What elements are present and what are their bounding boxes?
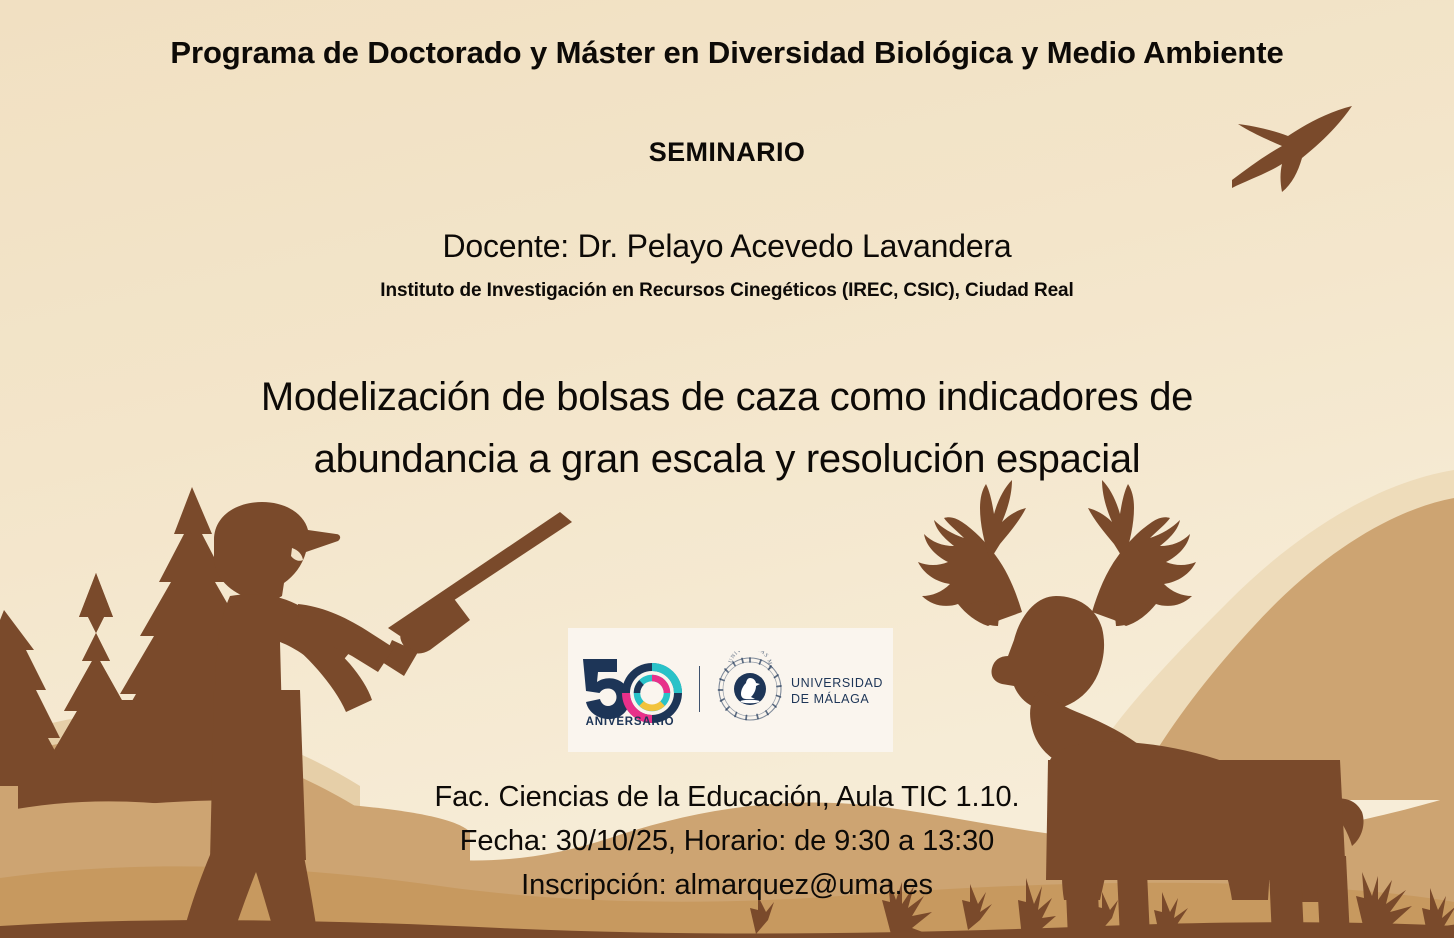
seminar-label: SEMINARIO [0, 137, 1454, 167]
venue-line: Fac. Ciencias de la Educación, Aula TIC … [0, 775, 1454, 819]
seminar-title-line-1: Modelización de bolsas de caza como indi… [0, 366, 1454, 428]
seminar-title: Modelización de bolsas de caza como indi… [0, 366, 1454, 490]
logo-divider [699, 666, 700, 712]
university-name-line1: UNIVERSIDAD [791, 676, 883, 690]
seminar-poster: Programa de Doctorado y Máster en Divers… [0, 0, 1454, 938]
university-of-malaga-logo: UNIVERSITAS MALACITANA UNIVERSIDAD DE MÁ… [715, 651, 883, 727]
date-time-line: Fecha: 30/10/25, Horario: de 9:30 a 13:3… [0, 819, 1454, 863]
anniversary-caption: ANIVERSARIO [585, 716, 674, 727]
event-details: Fac. Ciencias de la Educación, Aula TIC … [0, 775, 1454, 907]
logo-panel: ANIVERSARIO [568, 628, 893, 752]
registration-line: Inscripción: almarquez@uma.es [0, 863, 1454, 907]
speaker-name: Docente: Dr. Pelayo Acevedo Lavandera [0, 229, 1454, 265]
page-title: Programa de Doctorado y Máster en Divers… [0, 36, 1454, 71]
seal-motto: UNIVERSITAS MALACITANA [715, 651, 773, 670]
speaker-affiliation: Instituto de Investigación en Recursos C… [0, 280, 1454, 301]
seminar-title-line-2: abundancia a gran escala y resolución es… [0, 428, 1454, 490]
anniversary-50-logo: ANIVERSARIO [578, 651, 684, 727]
university-name-line2: DE MÁLAGA [791, 691, 869, 706]
